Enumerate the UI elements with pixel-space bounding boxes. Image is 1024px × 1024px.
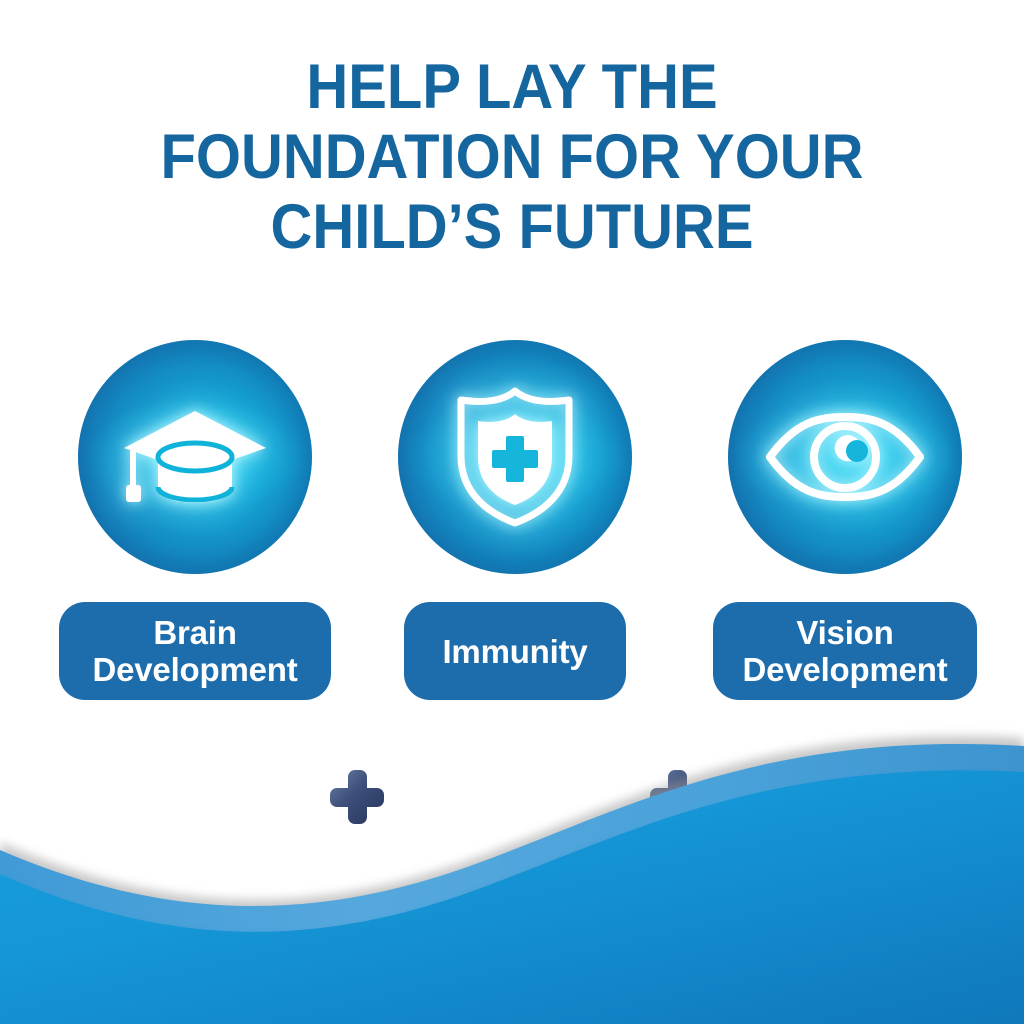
feature-label-brain-development: Brain Development: [92, 614, 297, 688]
headline-line-1: HELP LAY THE: [41, 52, 983, 122]
feature-icon-circle-vision: [728, 340, 962, 574]
page-title: HELP LAY THE FOUNDATION FOR YOUR CHILD’S…: [41, 52, 983, 262]
graduation-cap-icon: [78, 340, 312, 574]
headline-line-2: FOUNDATION FOR YOUR: [41, 122, 983, 192]
feature-brain-development: Brain Development: [55, 340, 335, 720]
eye-icon: [728, 340, 962, 574]
feature-label-immunity: Immunity: [442, 633, 587, 670]
feature-pill-vision-development[interactable]: Vision Development: [713, 602, 977, 700]
feature-pill-brain-development[interactable]: Brain Development: [59, 602, 331, 700]
feature-row: Brain Development Immunity: [0, 340, 1024, 720]
feature-pill-immunity[interactable]: Immunity: [404, 602, 626, 700]
shield-plus-icon: [398, 340, 632, 574]
poster-root: HELP LAY THE FOUNDATION FOR YOUR CHILD’S…: [0, 0, 1024, 1024]
feature-vision-development: Vision Development: [705, 340, 985, 720]
feature-icon-circle-immunity: [398, 340, 632, 574]
headline-line-3: CHILD’S FUTURE: [41, 192, 983, 262]
feature-immunity: Immunity: [375, 340, 655, 720]
bottom-wave-decoration: [0, 714, 1024, 1024]
feature-icon-circle-brain: [78, 340, 312, 574]
feature-label-vision-development: Vision Development: [742, 614, 947, 688]
